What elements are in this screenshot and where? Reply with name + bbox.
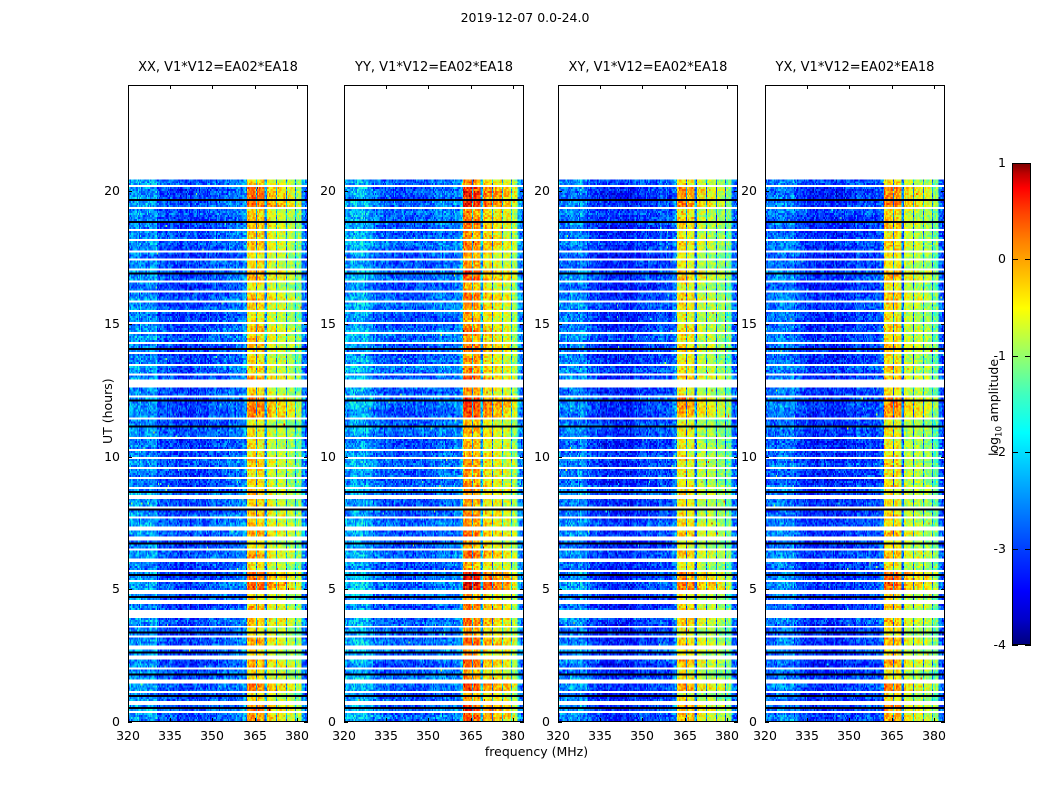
y-tick-label: 15 [300,316,336,331]
y-tick [344,722,348,723]
y-tick-label: 5 [721,581,757,596]
y-tick-label: 10 [721,449,757,464]
panel-title-xx: XX, V1*V12=EA02*EA18 [108,60,328,75]
y-tick-right [941,191,945,192]
panel-title-yy: YY, V1*V12=EA02*EA18 [324,60,544,75]
x-tick-top [212,85,213,89]
x-tick-top [128,85,129,89]
y-tick-label: 20 [514,183,550,198]
y-tick [128,324,132,325]
panel-title-xy: XY, V1*V12=EA02*EA18 [538,60,758,75]
x-tick-top [807,85,808,89]
x-tick-top [344,85,345,89]
x-tick-top [558,85,559,89]
figure-suptitle: 2019-12-07 0.0-24.0 [0,10,1050,25]
y-tick-label: 20 [721,183,757,198]
y-tick-right [941,589,945,590]
colorbar [1012,163,1031,645]
y-tick-label: 15 [84,316,120,331]
x-tick [297,718,298,722]
colorbar-tick-label: -4 [964,637,1006,652]
dynamic-spectrum-yy [345,86,523,721]
colorbar-tick [1012,356,1018,357]
x-tick [642,718,643,722]
y-tick [128,722,132,723]
colorbar-tick [1012,163,1018,164]
x-tick [212,718,213,722]
y-tick [765,457,769,458]
panel-title-yx: YX, V1*V12=EA02*EA18 [745,60,965,75]
x-tick-top [170,85,171,89]
y-tick [765,191,769,192]
y-tick-label: 5 [84,581,120,596]
x-tick-top [297,85,298,89]
y-tick [344,589,348,590]
x-tick-top [471,85,472,89]
colorbar-tick [1012,452,1018,453]
x-tick-top [934,85,935,89]
x-tick [386,718,387,722]
colorbar-tick-label: -3 [964,541,1006,556]
dynamic-spectrum-xy [559,86,737,721]
x-tick-label: 380 [909,728,959,743]
y-tick-label: 0 [721,714,757,729]
y-tick-right [941,722,945,723]
x-tick-label: 380 [488,728,538,743]
figure-canvas: 2019-12-07 0.0-24.0 XX, V1*V12=EA02*EA18… [0,0,1050,800]
x-tick [255,718,256,722]
y-tick-label: 20 [84,183,120,198]
x-tick [849,718,850,722]
colorbar-tick-right [1025,452,1031,453]
x-tick-top [428,85,429,89]
y-tick-label: 10 [84,449,120,464]
colorbar-tick [1012,259,1018,260]
colorbar-tick-label: 0 [964,251,1006,266]
colorbar-label-text: log [986,437,1001,456]
y-tick-label: 0 [514,714,550,729]
x-tick-top [255,85,256,89]
x-tick-top [765,85,766,89]
colorbar-tick-right [1025,163,1031,164]
colorbar-tick-right [1025,356,1031,357]
x-tick-top [386,85,387,89]
y-tick-label: 10 [514,449,550,464]
y-tick-right [941,324,945,325]
colorbar-tick [1012,549,1018,550]
y-tick [765,589,769,590]
x-tick-top [513,85,514,89]
y-tick-right [941,457,945,458]
y-tick [558,722,562,723]
x-tick-top [727,85,728,89]
colorbar-tick-label: 1 [964,155,1006,170]
dynamic-spectrum-xx [129,86,307,721]
y-tick-label: 15 [514,316,550,331]
y-tick-label: 0 [300,714,336,729]
x-tick [428,718,429,722]
y-tick-label: 5 [514,581,550,596]
colorbar-tick [1012,645,1018,646]
y-tick [344,324,348,325]
colorbar-tick-right [1025,645,1031,646]
y-tick-label: 10 [300,449,336,464]
y-tick [344,457,348,458]
axes-xx[interactable] [128,85,308,722]
x-tick-top [892,85,893,89]
colorbar-tick-right [1025,259,1031,260]
y-tick [558,457,562,458]
x-tick [807,718,808,722]
y-tick [558,324,562,325]
x-tick [934,718,935,722]
y-tick-label: 0 [84,714,120,729]
x-tick [685,718,686,722]
y-tick [765,324,769,325]
y-tick-label: 5 [300,581,336,596]
x-tick-top [642,85,643,89]
x-tick [471,718,472,722]
x-tick-label: 380 [272,728,322,743]
axes-yx[interactable] [765,85,945,722]
y-tick-label: 15 [721,316,757,331]
x-tick [170,718,171,722]
x-tick-top [600,85,601,89]
axes-yy[interactable] [344,85,524,722]
colorbar-label-suffix: amplitude [986,359,1001,426]
y-tick-label: 20 [300,183,336,198]
colorbar-label: log10 amplitude [986,359,1005,456]
y-tick [558,191,562,192]
x-tick [892,718,893,722]
axes-xy[interactable] [558,85,738,722]
x-tick-top [685,85,686,89]
y-tick [765,722,769,723]
x-axis-label: frequency (MHz) [337,744,737,759]
colorbar-tick-right [1025,549,1031,550]
x-tick [600,718,601,722]
y-axis-label: UT (hours) [100,378,115,444]
x-tick-top [849,85,850,89]
colorbar-label-subscript: 10 [995,426,1005,437]
y-tick [558,589,562,590]
y-tick [344,191,348,192]
y-tick [128,589,132,590]
y-tick [128,457,132,458]
dynamic-spectrum-yx [766,86,944,721]
y-tick [128,191,132,192]
